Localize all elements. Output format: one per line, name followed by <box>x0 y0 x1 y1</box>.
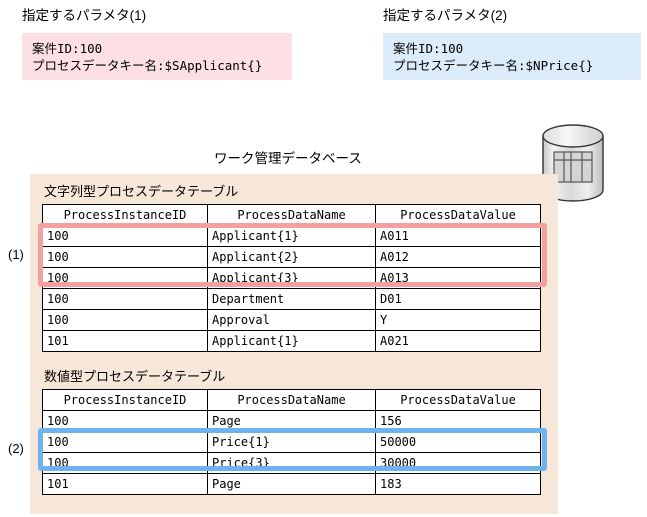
table1-r2-c0: 100 <box>43 268 208 289</box>
table2-r3-c0: 101 <box>43 474 208 495</box>
table2-highlight-marker: (2) <box>8 441 24 456</box>
table2-col-header-1: ProcessDataName <box>208 390 376 411</box>
table-row: 101 Page 183 <box>43 474 541 495</box>
table2-r1-c1: Price{1} <box>208 432 376 453</box>
param2-title: 指定するパラメタ(2) <box>383 8 507 24</box>
table-row: 100 Approval Y <box>43 310 541 331</box>
table2-col-header-0: ProcessInstanceID <box>43 390 208 411</box>
table-row: 100 Price{1} 50000 <box>43 432 541 453</box>
table1-r5-c0: 101 <box>43 331 208 352</box>
table1-r3-c2: D01 <box>376 289 541 310</box>
table1-highlight-marker: (1) <box>8 247 24 262</box>
table1-r3-c0: 100 <box>43 289 208 310</box>
table2-r0-c1: Page <box>208 411 376 432</box>
table-row: 100 Applicant{2} A012 <box>43 247 541 268</box>
table2-wrapper: ProcessInstanceID ProcessDataName Proces… <box>42 389 541 495</box>
table2-r0-c2: 156 <box>376 411 541 432</box>
table2-caption: 数値型プロセスデータテーブル <box>44 366 225 385</box>
param1-line-1: 案件ID:100 <box>32 40 282 57</box>
table1-r0-c1: Applicant{1} <box>208 226 376 247</box>
table1-r4-c0: 100 <box>43 310 208 331</box>
table2-col-header-2: ProcessDataValue <box>376 390 541 411</box>
table1-col-header-2: ProcessDataValue <box>376 205 541 226</box>
table-row: 100 Price{3} 30000 <box>43 453 541 474</box>
table1-r4-c1: Approval <box>208 310 376 331</box>
table-row: 101 Applicant{1} A021 <box>43 331 541 352</box>
table1-r2-c2: A013 <box>376 268 541 289</box>
table1-col-header-0: ProcessInstanceID <box>43 205 208 226</box>
table1-col-header-1: ProcessDataName <box>208 205 376 226</box>
table1-r5-c2: A021 <box>376 331 541 352</box>
table1-caption: 文字列型プロセスデータテーブル <box>44 181 238 200</box>
table1-r5-c1: Applicant{1} <box>208 331 376 352</box>
table2-r2-c0: 100 <box>43 453 208 474</box>
param2-line-2: プロセスデータキー名:$NPrice{} <box>393 57 631 74</box>
table-row: 100 Page 156 <box>43 411 541 432</box>
table1-r4-c2: Y <box>376 310 541 331</box>
table-row: 100 Applicant{3} A013 <box>43 268 541 289</box>
table2-r3-c1: Page <box>208 474 376 495</box>
param2-line-1: 案件ID:100 <box>393 40 631 57</box>
param1-title: 指定するパラメタ(1) <box>22 8 146 24</box>
param1-box: 案件ID:100 プロセスデータキー名:$SApplicant{} <box>22 33 292 80</box>
table2-r2-c1: Price{3} <box>208 453 376 474</box>
table2-r1-c0: 100 <box>43 432 208 453</box>
table2-r0-c0: 100 <box>43 411 208 432</box>
table1-r0-c2: A011 <box>376 226 541 247</box>
table1-r0-c0: 100 <box>43 226 208 247</box>
table-row: 100 Applicant{1} A011 <box>43 226 541 247</box>
table1-r2-c1: Applicant{3} <box>208 268 376 289</box>
table1-r1-c2: A012 <box>376 247 541 268</box>
database-title: ワーク管理データベース <box>214 147 362 167</box>
table1-r3-c1: Department <box>208 289 376 310</box>
numeric-process-data-table: ProcessInstanceID ProcessDataName Proces… <box>42 389 541 495</box>
table2-r1-c2: 50000 <box>376 432 541 453</box>
param1-line-2: プロセスデータキー名:$SApplicant{} <box>32 57 282 74</box>
table1-r1-c0: 100 <box>43 247 208 268</box>
table1-r1-c1: Applicant{2} <box>208 247 376 268</box>
table1-wrapper: ProcessInstanceID ProcessDataName Proces… <box>42 204 541 352</box>
table2-header-row: ProcessInstanceID ProcessDataName Proces… <box>43 390 541 411</box>
table1-header-row: ProcessInstanceID ProcessDataName Proces… <box>43 205 541 226</box>
string-process-data-table: ProcessInstanceID ProcessDataName Proces… <box>42 204 541 352</box>
table-row: 100 Department D01 <box>43 289 541 310</box>
table2-r2-c2: 30000 <box>376 453 541 474</box>
table2-r3-c2: 183 <box>376 474 541 495</box>
param2-box: 案件ID:100 プロセスデータキー名:$NPrice{} <box>383 33 641 80</box>
